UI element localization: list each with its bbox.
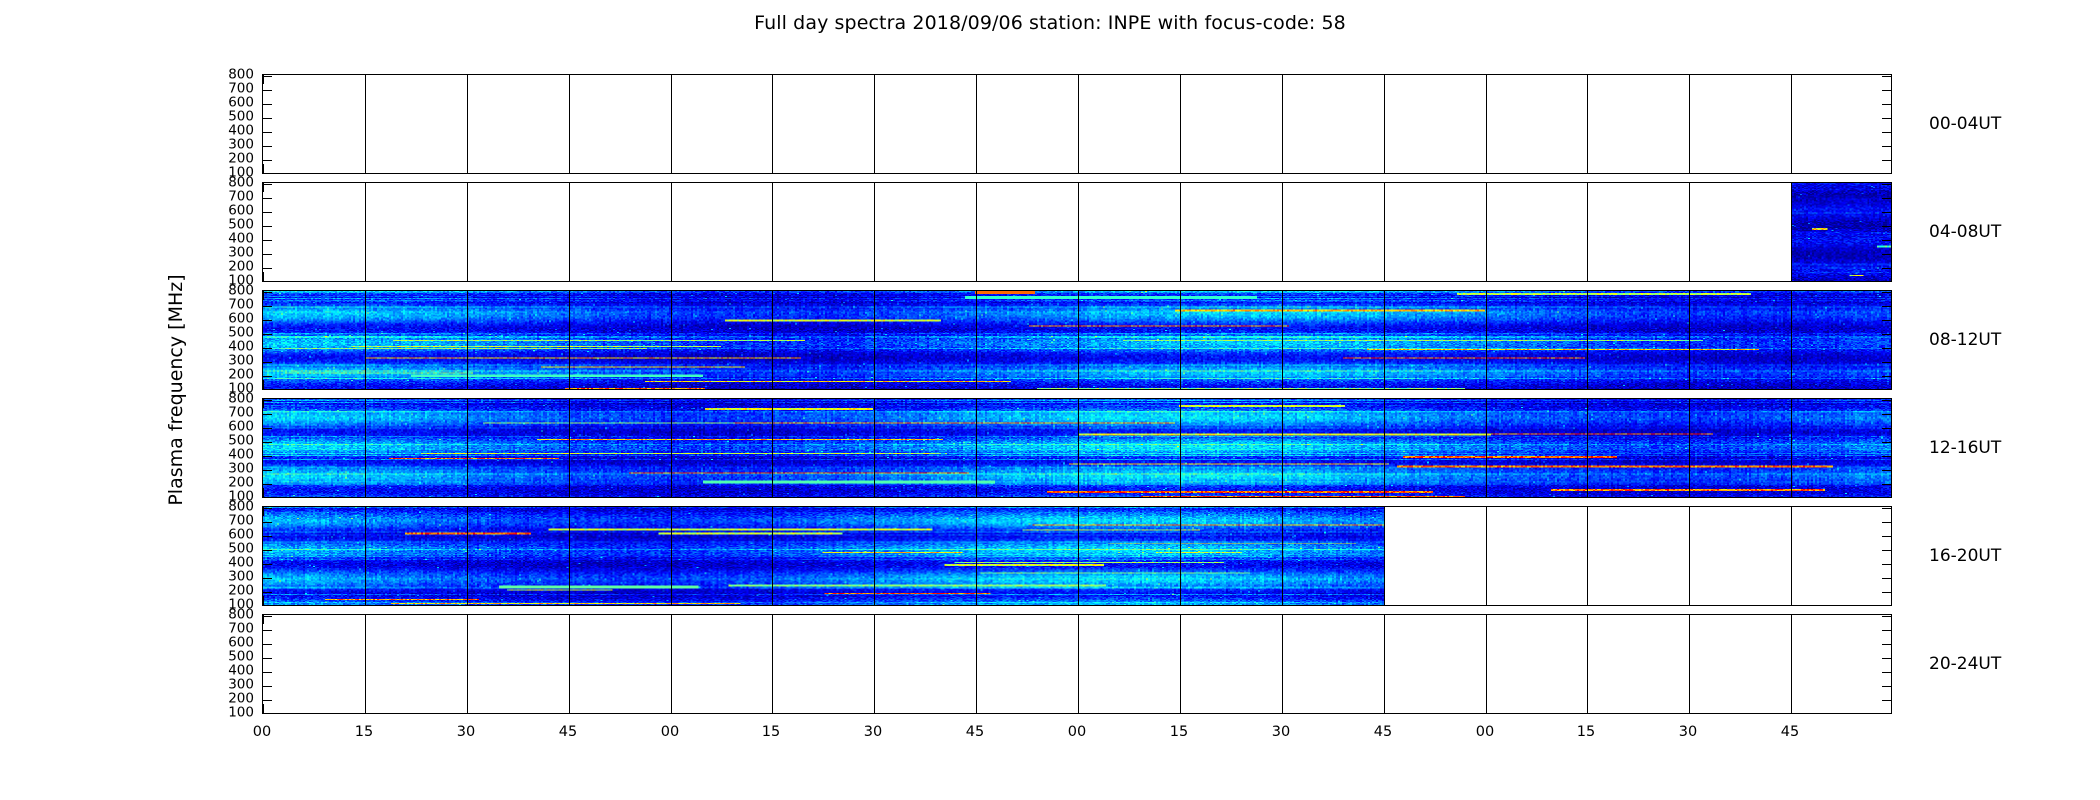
- column-separator: [467, 507, 468, 605]
- y-tick-right-700: [1882, 90, 1891, 91]
- y-tick-right-500: [1882, 334, 1891, 335]
- column-separator: [1180, 615, 1181, 713]
- y-tick-left-800: [263, 292, 272, 293]
- y-tick-left-400: [263, 348, 272, 349]
- x-tick-label: 00: [661, 724, 679, 740]
- y-tick-left-400: [263, 132, 272, 133]
- column-separator: [467, 183, 468, 281]
- x-tick-top: [263, 399, 264, 408]
- y-tick-left-800: [263, 508, 272, 509]
- x-tick-bottom: [1791, 164, 1792, 173]
- x-tick-top: [1689, 183, 1690, 192]
- x-tick-label: 00: [1068, 724, 1086, 740]
- x-tick-bottom: [1791, 488, 1792, 497]
- column-separator: [1587, 75, 1588, 173]
- x-tick-top: [467, 507, 468, 516]
- x-tick-top: [874, 399, 875, 408]
- x-tick-bottom: [1587, 488, 1588, 497]
- y-tick-left-600: [263, 428, 272, 429]
- x-tick-top: [569, 183, 570, 192]
- y-tick-right-700: [1882, 630, 1891, 631]
- x-tick-top: [1791, 183, 1792, 192]
- column-separator: [1791, 507, 1792, 605]
- x-tick-top: [1384, 291, 1385, 300]
- y-tick-left-200: [263, 484, 272, 485]
- x-tick-top: [874, 291, 875, 300]
- x-tick-top: [569, 615, 570, 624]
- x-tick-top: [1689, 399, 1690, 408]
- x-tick-bottom: [1791, 380, 1792, 389]
- y-tick-right-700: [1882, 414, 1891, 415]
- y-tick-right-300: [1882, 578, 1891, 579]
- x-tick-top: [1486, 615, 1487, 624]
- y-tick-left-600: [263, 212, 272, 213]
- column-separator: [1486, 615, 1487, 713]
- column-separator: [1384, 291, 1385, 389]
- column-separator: [1180, 75, 1181, 173]
- column-separator: [1078, 183, 1079, 281]
- x-tick-top: [671, 615, 672, 624]
- y-tick-left-400: [263, 240, 272, 241]
- y-tick-right-300: [1882, 686, 1891, 687]
- x-tick-top: [671, 507, 672, 516]
- x-tick-bottom: [263, 596, 264, 605]
- x-tick-label: 30: [1272, 724, 1290, 740]
- x-tick-label: 30: [1679, 724, 1697, 740]
- x-tick-top: [772, 399, 773, 408]
- column-separator: [772, 507, 773, 605]
- x-tick-bottom: [671, 272, 672, 281]
- x-tick-top: [365, 291, 366, 300]
- x-tick-top: [467, 615, 468, 624]
- panel-label-16-20ut: 16-20UT: [1929, 546, 2001, 566]
- x-tick-bottom: [772, 164, 773, 173]
- column-separator: [671, 291, 672, 389]
- column-separator: [467, 291, 468, 389]
- x-tick-bottom: [874, 488, 875, 497]
- column-separator: [874, 183, 875, 281]
- column-separator: [1078, 75, 1079, 173]
- x-tick-top: [1282, 75, 1283, 84]
- x-tick-bottom: [874, 704, 875, 713]
- y-tick-left-500: [263, 658, 272, 659]
- y-tick-right-500: [1882, 118, 1891, 119]
- x-tick-top: [1791, 615, 1792, 624]
- x-tick-bottom: [1078, 596, 1079, 605]
- y-tick-right-700: [1882, 198, 1891, 199]
- column-separator: [569, 75, 570, 173]
- column-separator: [569, 183, 570, 281]
- x-tick-top: [1384, 183, 1385, 192]
- y-tick-right-300: [1882, 254, 1891, 255]
- y-tick-right-300: [1882, 146, 1891, 147]
- y-tick-left-600: [263, 536, 272, 537]
- y-tick-right-400: [1882, 456, 1891, 457]
- column-separator: [1486, 75, 1487, 173]
- x-tick-top: [467, 291, 468, 300]
- y-tick-left-300: [263, 254, 272, 255]
- x-tick-bottom: [1689, 164, 1690, 173]
- x-tick-bottom: [569, 488, 570, 497]
- x-tick-top: [467, 75, 468, 84]
- panel-data-04-08ut: [1792, 183, 1892, 281]
- column-separator: [365, 183, 366, 281]
- x-tick-bottom: [874, 164, 875, 173]
- column-separator: [772, 183, 773, 281]
- column-separator: [1282, 75, 1283, 173]
- spectrogram-figure: Full day spectra 2018/09/06 station: INP…: [0, 0, 2100, 800]
- x-tick-top: [772, 291, 773, 300]
- x-tick-top: [467, 399, 468, 408]
- x-tick-label: 15: [1170, 724, 1188, 740]
- x-tick-bottom: [569, 596, 570, 605]
- column-separator: [976, 291, 977, 389]
- x-tick-top: [1078, 291, 1079, 300]
- x-tick-bottom: [1282, 596, 1283, 605]
- x-tick-bottom: [772, 704, 773, 713]
- y-tick-left-700: [263, 90, 272, 91]
- x-tick-top: [1384, 399, 1385, 408]
- x-tick-top: [671, 75, 672, 84]
- x-tick-bottom: [263, 380, 264, 389]
- y-tick-right-400: [1882, 564, 1891, 565]
- column-separator: [1689, 291, 1690, 389]
- column-separator: [1384, 399, 1385, 497]
- x-tick-label: 45: [559, 724, 577, 740]
- x-tick-top: [365, 183, 366, 192]
- x-tick-top: [1078, 183, 1079, 192]
- x-tick-bottom: [1078, 380, 1079, 389]
- x-tick-label: 00: [253, 724, 271, 740]
- x-tick-top: [1587, 291, 1588, 300]
- x-tick-top: [874, 615, 875, 624]
- x-tick-bottom: [772, 380, 773, 389]
- column-separator: [1791, 399, 1792, 497]
- x-tick-top: [1689, 75, 1690, 84]
- x-tick-bottom: [1384, 704, 1385, 713]
- x-tick-top: [1078, 75, 1079, 84]
- x-tick-top: [1486, 399, 1487, 408]
- x-tick-top: [1486, 507, 1487, 516]
- y-tick-right-800: [1882, 616, 1891, 617]
- x-tick-bottom: [1282, 704, 1283, 713]
- x-tick-bottom: [1791, 596, 1792, 605]
- x-tick-bottom: [1282, 164, 1283, 173]
- column-separator: [1180, 507, 1181, 605]
- x-tick-bottom: [874, 380, 875, 389]
- x-tick-bottom: [671, 164, 672, 173]
- x-tick-top: [976, 507, 977, 516]
- x-tick-top: [976, 183, 977, 192]
- x-tick-top: [1282, 399, 1283, 408]
- column-separator: [1791, 615, 1792, 713]
- x-tick-bottom: [1282, 272, 1283, 281]
- x-tick-bottom: [1486, 704, 1487, 713]
- x-tick-top: [1180, 291, 1181, 300]
- x-tick-bottom: [365, 704, 366, 713]
- x-tick-bottom: [1486, 272, 1487, 281]
- column-separator: [1689, 615, 1690, 713]
- y-tick-left-400: [263, 564, 272, 565]
- column-separator: [365, 615, 366, 713]
- x-tick-bottom: [365, 488, 366, 497]
- x-tick-top: [365, 399, 366, 408]
- y-tick-right-500: [1882, 658, 1891, 659]
- y-tick-left-300: [263, 146, 272, 147]
- y-tick-right-800: [1882, 508, 1891, 509]
- y-tick-left-200: [263, 592, 272, 593]
- spectrogram-panel-00-04ut: [262, 74, 1892, 174]
- x-tick-bottom: [1486, 380, 1487, 389]
- spectrogram-panel-12-16ut: [262, 398, 1892, 498]
- x-tick-bottom: [467, 704, 468, 713]
- x-tick-bottom: [1078, 488, 1079, 497]
- x-tick-bottom: [976, 596, 977, 605]
- spectrogram-canvas: [263, 507, 1384, 605]
- y-tick-left-700: [263, 306, 272, 307]
- x-tick-bottom: [1282, 380, 1283, 389]
- x-tick-top: [1587, 183, 1588, 192]
- x-tick-top: [1486, 183, 1487, 192]
- x-tick-top: [263, 291, 264, 300]
- x-tick-bottom: [1384, 272, 1385, 281]
- x-tick-top: [1180, 615, 1181, 624]
- x-tick-top: [1384, 75, 1385, 84]
- column-separator: [467, 399, 468, 497]
- column-separator: [1689, 183, 1690, 281]
- column-separator: [1587, 507, 1588, 605]
- x-tick-bottom: [365, 380, 366, 389]
- y-tick-left-800: [263, 76, 272, 77]
- x-tick-top: [365, 615, 366, 624]
- x-tick-label: 45: [966, 724, 984, 740]
- column-separator: [1282, 183, 1283, 281]
- y-tick-label: 100: [206, 706, 254, 720]
- column-separator: [569, 399, 570, 497]
- y-tick-right-500: [1882, 226, 1891, 227]
- column-separator: [976, 507, 977, 605]
- x-tick-label: 45: [1374, 724, 1392, 740]
- y-tick-right-600: [1882, 104, 1891, 105]
- x-tick-bottom: [1384, 488, 1385, 497]
- x-tick-top: [569, 291, 570, 300]
- column-separator: [772, 399, 773, 497]
- x-tick-bottom: [569, 164, 570, 173]
- x-tick-top: [1486, 291, 1487, 300]
- column-separator: [1791, 183, 1792, 281]
- column-separator: [1180, 291, 1181, 389]
- y-tick-right-800: [1882, 400, 1891, 401]
- x-tick-bottom: [772, 596, 773, 605]
- x-tick-top: [1587, 507, 1588, 516]
- x-tick-bottom: [874, 272, 875, 281]
- x-tick-bottom: [365, 272, 366, 281]
- x-tick-bottom: [569, 704, 570, 713]
- panel-data-16-20ut: [263, 507, 1384, 605]
- column-separator: [976, 615, 977, 713]
- column-separator: [1180, 183, 1181, 281]
- x-tick-top: [263, 507, 264, 516]
- x-tick-label: 30: [457, 724, 475, 740]
- column-separator: [1791, 75, 1792, 173]
- y-tick-right-500: [1882, 550, 1891, 551]
- y-axis-label: Plasma frequency [MHz]: [165, 274, 187, 505]
- x-tick-bottom: [976, 488, 977, 497]
- column-separator: [671, 399, 672, 497]
- x-tick-top: [569, 507, 570, 516]
- x-tick-bottom: [976, 380, 977, 389]
- column-separator: [1689, 75, 1690, 173]
- x-tick-bottom: [1486, 488, 1487, 497]
- y-tick-left-200: [263, 268, 272, 269]
- x-tick-bottom: [1689, 704, 1690, 713]
- column-separator: [976, 399, 977, 497]
- column-separator: [1078, 615, 1079, 713]
- column-separator: [1282, 507, 1283, 605]
- x-tick-bottom: [467, 272, 468, 281]
- column-separator: [671, 507, 672, 605]
- column-separator: [1282, 291, 1283, 389]
- x-tick-bottom: [1791, 704, 1792, 713]
- x-tick-bottom: [1486, 164, 1487, 173]
- column-separator: [874, 399, 875, 497]
- y-tick-left-500: [263, 226, 272, 227]
- x-tick-bottom: [1689, 272, 1690, 281]
- x-tick-top: [772, 183, 773, 192]
- column-separator: [1486, 291, 1487, 389]
- column-separator: [976, 183, 977, 281]
- x-tick-top: [976, 75, 977, 84]
- x-tick-top: [1689, 507, 1690, 516]
- column-separator: [1282, 399, 1283, 497]
- x-tick-bottom: [1689, 596, 1690, 605]
- x-tick-bottom: [1587, 164, 1588, 173]
- x-tick-bottom: [671, 380, 672, 389]
- column-separator: [1587, 399, 1588, 497]
- x-tick-top: [671, 183, 672, 192]
- column-separator: [365, 291, 366, 389]
- x-tick-bottom: [569, 380, 570, 389]
- column-separator: [1689, 399, 1690, 497]
- column-separator: [1587, 183, 1588, 281]
- column-separator: [1282, 615, 1283, 713]
- column-separator: [1486, 507, 1487, 605]
- x-tick-bottom: [467, 164, 468, 173]
- x-tick-top: [1282, 507, 1283, 516]
- y-tick-right-200: [1882, 592, 1891, 593]
- x-tick-bottom: [772, 488, 773, 497]
- x-tick-bottom: [1282, 488, 1283, 497]
- column-separator: [1486, 399, 1487, 497]
- y-tick-right-600: [1882, 644, 1891, 645]
- x-tick-bottom: [1791, 272, 1792, 281]
- x-tick-top: [1078, 507, 1079, 516]
- column-separator: [1587, 291, 1588, 389]
- column-separator: [1486, 183, 1487, 281]
- column-separator: [569, 291, 570, 389]
- x-tick-bottom: [1587, 272, 1588, 281]
- column-separator: [1587, 615, 1588, 713]
- x-tick-bottom: [467, 380, 468, 389]
- x-tick-top: [1587, 399, 1588, 408]
- spectrogram-panel-16-20ut: [262, 506, 1892, 606]
- x-tick-top: [976, 615, 977, 624]
- y-tick-left-300: [263, 686, 272, 687]
- y-tick-right-800: [1882, 184, 1891, 185]
- y-tick-right-800: [1882, 292, 1891, 293]
- x-tick-bottom: [1180, 488, 1181, 497]
- y-tick-right-400: [1882, 132, 1891, 133]
- x-tick-bottom: [263, 488, 264, 497]
- x-tick-top: [569, 399, 570, 408]
- column-separator: [671, 615, 672, 713]
- y-tick-left-300: [263, 578, 272, 579]
- column-separator: [874, 615, 875, 713]
- x-tick-bottom: [1689, 380, 1690, 389]
- x-tick-top: [671, 291, 672, 300]
- y-tick-left-300: [263, 362, 272, 363]
- x-tick-label: 15: [762, 724, 780, 740]
- column-separator: [467, 75, 468, 173]
- x-tick-label: 30: [864, 724, 882, 740]
- x-tick-top: [1689, 615, 1690, 624]
- x-tick-top: [1078, 399, 1079, 408]
- x-tick-top: [1384, 507, 1385, 516]
- spectrogram-canvas: [1792, 183, 1892, 281]
- x-tick-top: [976, 291, 977, 300]
- x-tick-bottom: [772, 272, 773, 281]
- x-tick-bottom: [1384, 596, 1385, 605]
- x-tick-bottom: [976, 704, 977, 713]
- x-tick-top: [772, 507, 773, 516]
- x-tick-top: [1587, 75, 1588, 84]
- x-tick-bottom: [467, 596, 468, 605]
- y-tick-left-800: [263, 184, 272, 185]
- x-tick-top: [1587, 615, 1588, 624]
- x-tick-bottom: [874, 596, 875, 605]
- x-tick-bottom: [263, 272, 264, 281]
- panel-label-12-16ut: 12-16UT: [1929, 438, 2001, 458]
- x-tick-top: [976, 399, 977, 408]
- x-tick-bottom: [365, 596, 366, 605]
- x-tick-top: [874, 507, 875, 516]
- x-tick-bottom: [467, 488, 468, 497]
- x-tick-bottom: [1587, 380, 1588, 389]
- column-separator: [671, 183, 672, 281]
- y-tick-left-400: [263, 672, 272, 673]
- y-tick-left-500: [263, 118, 272, 119]
- x-tick-top: [467, 183, 468, 192]
- column-separator: [365, 75, 366, 173]
- column-separator: [1384, 75, 1385, 173]
- y-tick-right-200: [1882, 160, 1891, 161]
- x-tick-top: [874, 183, 875, 192]
- y-tick-right-200: [1882, 700, 1891, 701]
- column-separator: [1180, 399, 1181, 497]
- x-tick-top: [569, 75, 570, 84]
- y-tick-left-200: [263, 160, 272, 161]
- panel-label-04-08ut: 04-08UT: [1929, 222, 2001, 242]
- x-tick-bottom: [1384, 164, 1385, 173]
- column-separator: [1078, 507, 1079, 605]
- x-tick-top: [263, 75, 264, 84]
- panel-label-08-12ut: 08-12UT: [1929, 330, 2001, 350]
- x-tick-top: [365, 507, 366, 516]
- x-tick-bottom: [976, 164, 977, 173]
- spectrogram-panel-20-24ut: [262, 614, 1892, 714]
- y-tick-right-700: [1882, 306, 1891, 307]
- spectrogram-panel-04-08ut: [262, 182, 1892, 282]
